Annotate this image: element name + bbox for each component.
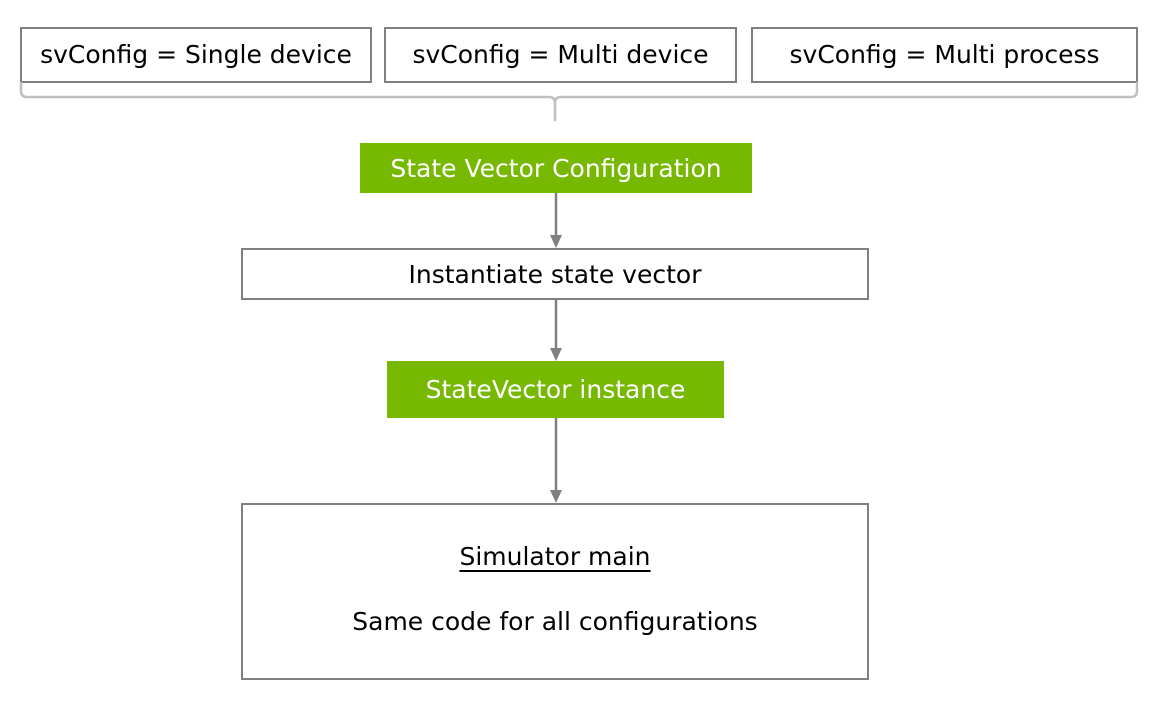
- config-option-single-device[interactable]: svConfig = Single device: [20, 27, 372, 83]
- brace-connector-icon: [14, 76, 1144, 126]
- config-option-label: svConfig = Multi process: [790, 41, 1100, 69]
- config-option-multi-device[interactable]: svConfig = Multi device: [384, 27, 737, 83]
- node-state-vector-instance[interactable]: StateVector instance: [387, 361, 724, 418]
- node-label: State Vector Configuration: [390, 154, 721, 183]
- arrow-down-icon: [548, 193, 564, 249]
- node-state-vector-configuration[interactable]: State Vector Configuration: [360, 143, 752, 193]
- node-instantiate-state-vector[interactable]: Instantiate state vector: [241, 248, 869, 300]
- node-label: Instantiate state vector: [409, 260, 702, 289]
- config-option-multi-process[interactable]: svConfig = Multi process: [751, 27, 1138, 83]
- simulator-main-title: Simulator main: [459, 542, 650, 571]
- arrow-down-icon: [548, 418, 564, 504]
- simulator-main-subtitle: Same code for all configurations: [352, 607, 757, 636]
- node-simulator-main[interactable]: Simulator main Same code for all configu…: [241, 503, 869, 680]
- arrow-down-icon: [548, 300, 564, 362]
- config-option-label: svConfig = Multi device: [412, 41, 708, 69]
- config-option-label: svConfig = Single device: [40, 41, 352, 69]
- node-label: StateVector instance: [426, 375, 686, 404]
- diagram-canvas: svConfig = Single device svConfig = Mult…: [0, 0, 1151, 701]
